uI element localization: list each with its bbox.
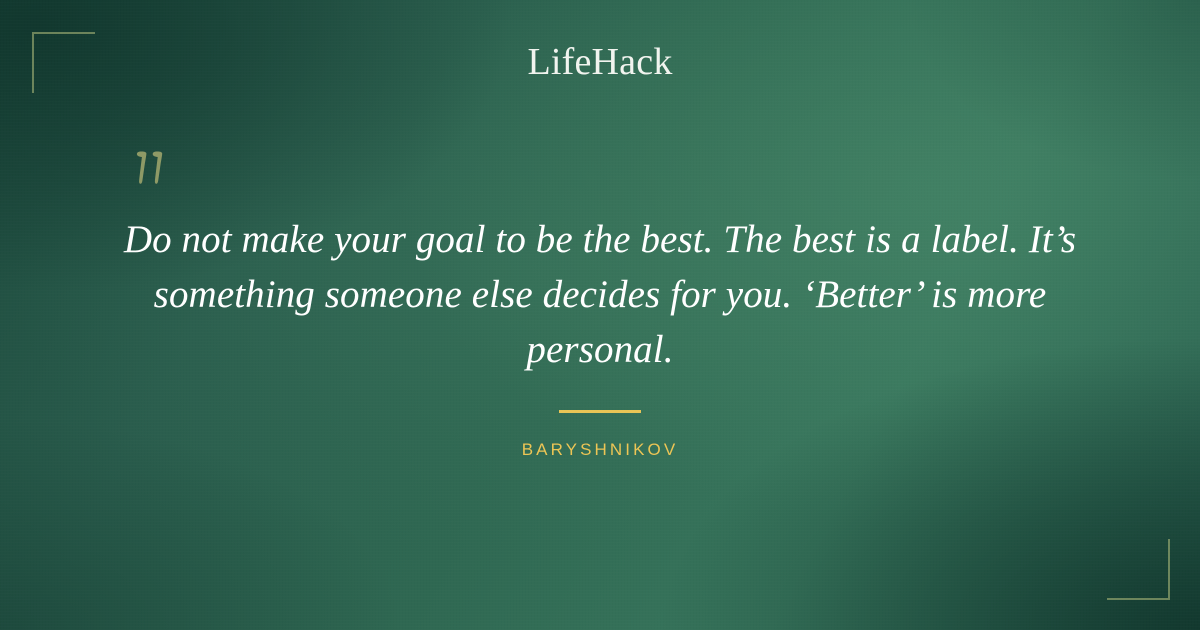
quote-card: LifeHack Do not make your goal to be the… bbox=[0, 0, 1200, 630]
quote-text: Do not make your goal to be the best. Th… bbox=[100, 212, 1100, 377]
quote-mark-icon bbox=[131, 143, 191, 199]
quote-author: BARYSHNIKOV bbox=[0, 440, 1200, 460]
attribution-divider bbox=[559, 410, 641, 413]
divider-wrapper bbox=[0, 410, 1200, 413]
brand-logo: LifeHack bbox=[0, 40, 1200, 84]
quote-block: Do not make your goal to be the best. Th… bbox=[100, 212, 1100, 377]
corner-bracket-bottom-right-icon bbox=[1107, 539, 1170, 600]
